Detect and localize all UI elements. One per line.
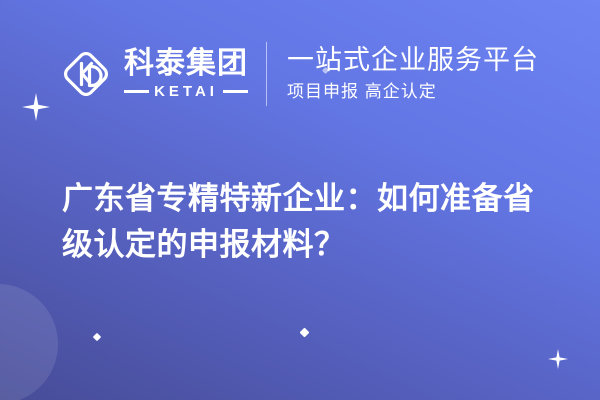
wordmark-rule-left <box>124 90 149 93</box>
wordmark-rule-right <box>223 90 248 93</box>
wordmark-en: KETAI <box>149 84 223 99</box>
ketai-logo-icon <box>58 46 114 102</box>
page-title: 广东省专精特新企业：如何准备省级认定的申报材料？ <box>62 176 548 268</box>
banner-header: 科泰集团 KETAI 一站式企业服务平台 项目申报 高企认定 <box>0 34 600 114</box>
tagline-block: 一站式企业服务平台 项目申报 高企认定 <box>287 45 539 102</box>
four-point-sparkle-icon <box>548 349 568 369</box>
wordmark-cn: 科泰集团 <box>124 49 248 79</box>
wordmark-en-row: KETAI <box>124 84 248 99</box>
wordmark: 科泰集团 KETAI <box>124 49 248 99</box>
promo-banner: 科泰集团 KETAI 一站式企业服务平台 项目申报 高企认定 广东省专精特新企业… <box>0 0 600 400</box>
four-point-sparkle-icon <box>22 93 50 121</box>
header-divider <box>266 42 267 106</box>
tagline-sub: 项目申报 高企认定 <box>287 81 539 103</box>
diamond-dot-icon <box>93 333 101 341</box>
brand-lockup[interactable]: 科泰集团 KETAI <box>58 46 248 102</box>
circle-blob-shape <box>0 284 58 400</box>
tagline-main: 一站式企业服务平台 <box>287 45 539 75</box>
diamond-dot-icon <box>300 328 310 338</box>
